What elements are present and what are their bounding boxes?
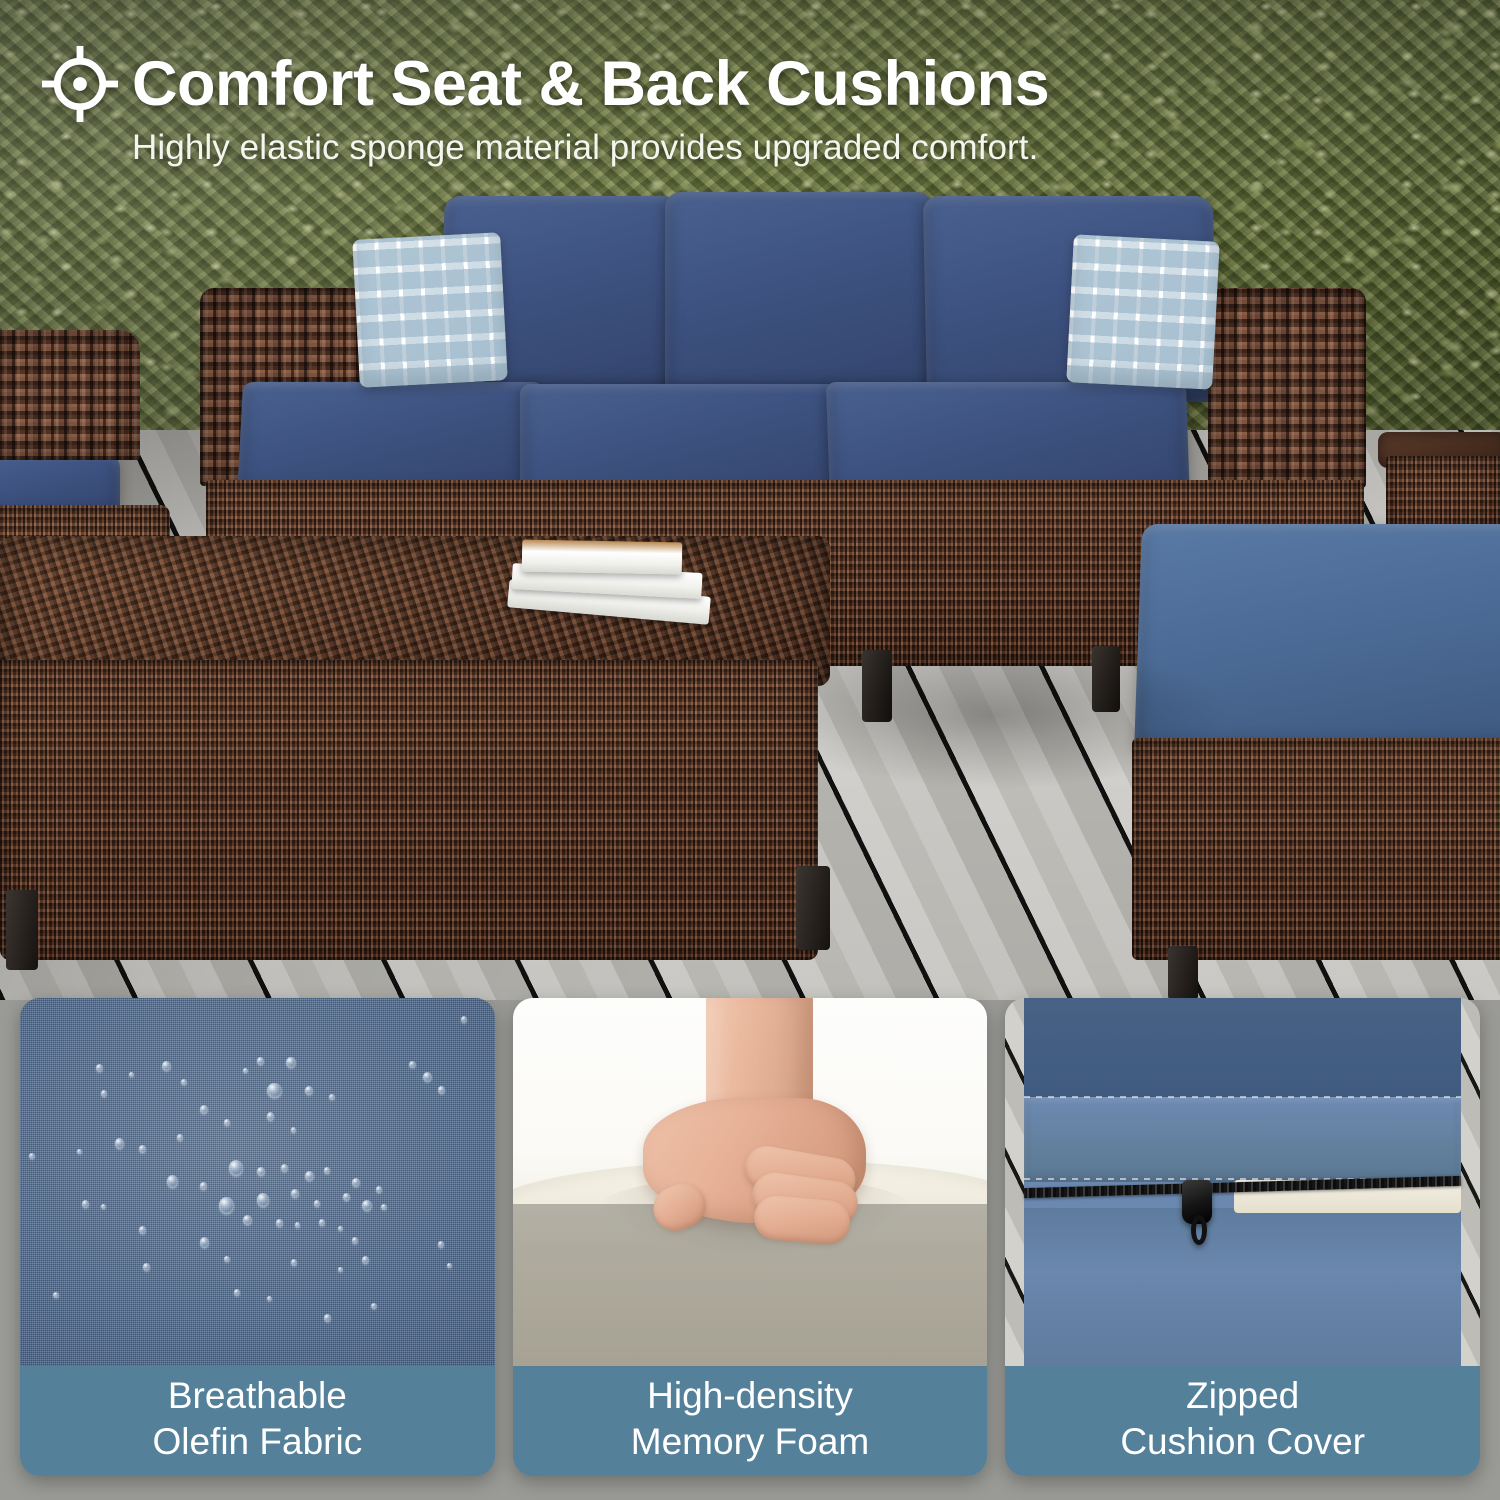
sofa-arm-right (1208, 288, 1366, 488)
coffee-table-body (0, 660, 818, 960)
caption-line-2: Olefin Fabric (152, 1421, 362, 1463)
page-title: Comfort Seat & Back Cushions (132, 53, 1049, 116)
cover-side-band (1024, 1097, 1461, 1182)
cushion-cover (1024, 998, 1461, 1366)
zipped-cover-photo (1005, 998, 1480, 1366)
throw-pillow-right (1066, 234, 1220, 389)
hand-pressing-foam (627, 998, 893, 1256)
zipper-pull-ring[interactable] (1191, 1215, 1207, 1244)
caption-line-2: Cushion Cover (1120, 1421, 1365, 1463)
coffee-table-leg-left (6, 890, 38, 970)
target-crosshair-icon (42, 46, 118, 122)
olefin-fabric-surface (20, 998, 495, 1366)
throw-pillow-left (352, 232, 508, 388)
caption-line-2: Memory Foam (631, 1421, 869, 1463)
cover-top-perforated (1024, 998, 1461, 1097)
product-feature-image: Comfort Seat & Back Cushions Highly elas… (0, 0, 1500, 1500)
title-row: Comfort Seat & Back Cushions (0, 0, 1500, 122)
cover-seam-top (1024, 1096, 1461, 1098)
caption-olefin-fabric: Breathable Olefin Fabric (20, 1366, 495, 1476)
memory-foam-photo (513, 998, 988, 1366)
caption-line-1: Breathable (168, 1375, 347, 1417)
panel-zipped-cushion-cover[interactable]: Zipped Cushion Cover (1005, 998, 1480, 1476)
finger-ring (752, 1194, 851, 1246)
page-subtitle: Highly elastic sponge material provides … (0, 129, 1500, 168)
caption-line-1: Zipped (1186, 1375, 1299, 1417)
book-top (522, 540, 683, 575)
cover-lower-panel (1024, 1208, 1461, 1366)
coffee-table-leg-right (796, 866, 830, 950)
panel-high-density-memory-foam[interactable]: High-density Memory Foam (513, 998, 988, 1476)
feature-panels: Breathable Olefin Fabric (0, 998, 1500, 1476)
panel-breathable-olefin-fabric[interactable]: Breathable Olefin Fabric (20, 998, 495, 1476)
armchair-backrest (0, 330, 140, 460)
back-cushion-center (665, 192, 933, 397)
ottoman-leg (1168, 946, 1198, 1000)
caption-zipped-cover: Zipped Cushion Cover (1005, 1366, 1480, 1476)
olefin-fabric-photo (20, 998, 495, 1366)
header: Comfort Seat & Back Cushions Highly elas… (0, 0, 1500, 168)
caption-line-1: High-density (647, 1375, 853, 1417)
caption-memory-foam: High-density Memory Foam (513, 1366, 988, 1476)
furniture-shadow (760, 640, 1230, 790)
